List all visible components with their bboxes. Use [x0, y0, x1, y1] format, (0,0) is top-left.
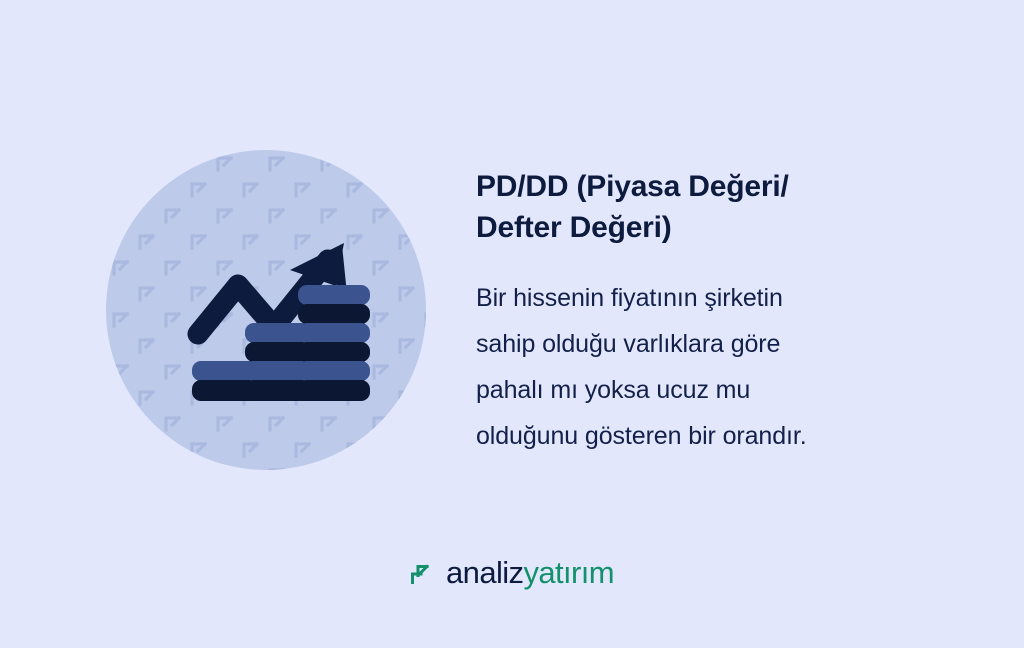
logo-text-accent: yatırım — [523, 555, 614, 590]
infographic-card: PD/DD (Piyasa Değeri/ Defter Değeri) Bir… — [0, 0, 1024, 648]
logo-text-primary: analiz — [446, 555, 523, 590]
page-title: PD/DD (Piyasa Değeri/ Defter Değeri) — [476, 166, 946, 248]
coin-stack-3 — [298, 285, 370, 401]
illustration-container — [106, 150, 426, 470]
logo-wordmark: analizyatırım — [446, 556, 614, 590]
logo-bracket-icon — [410, 562, 435, 587]
growth-chart-illustration — [106, 150, 426, 470]
text-block: PD/DD (Piyasa Değeri/ Defter Değeri) Bir… — [476, 166, 946, 459]
brand-logo: analizyatırım — [0, 556, 1024, 590]
page-description: Bir hissenin fiyatının şirketin sahip ol… — [476, 248, 946, 459]
